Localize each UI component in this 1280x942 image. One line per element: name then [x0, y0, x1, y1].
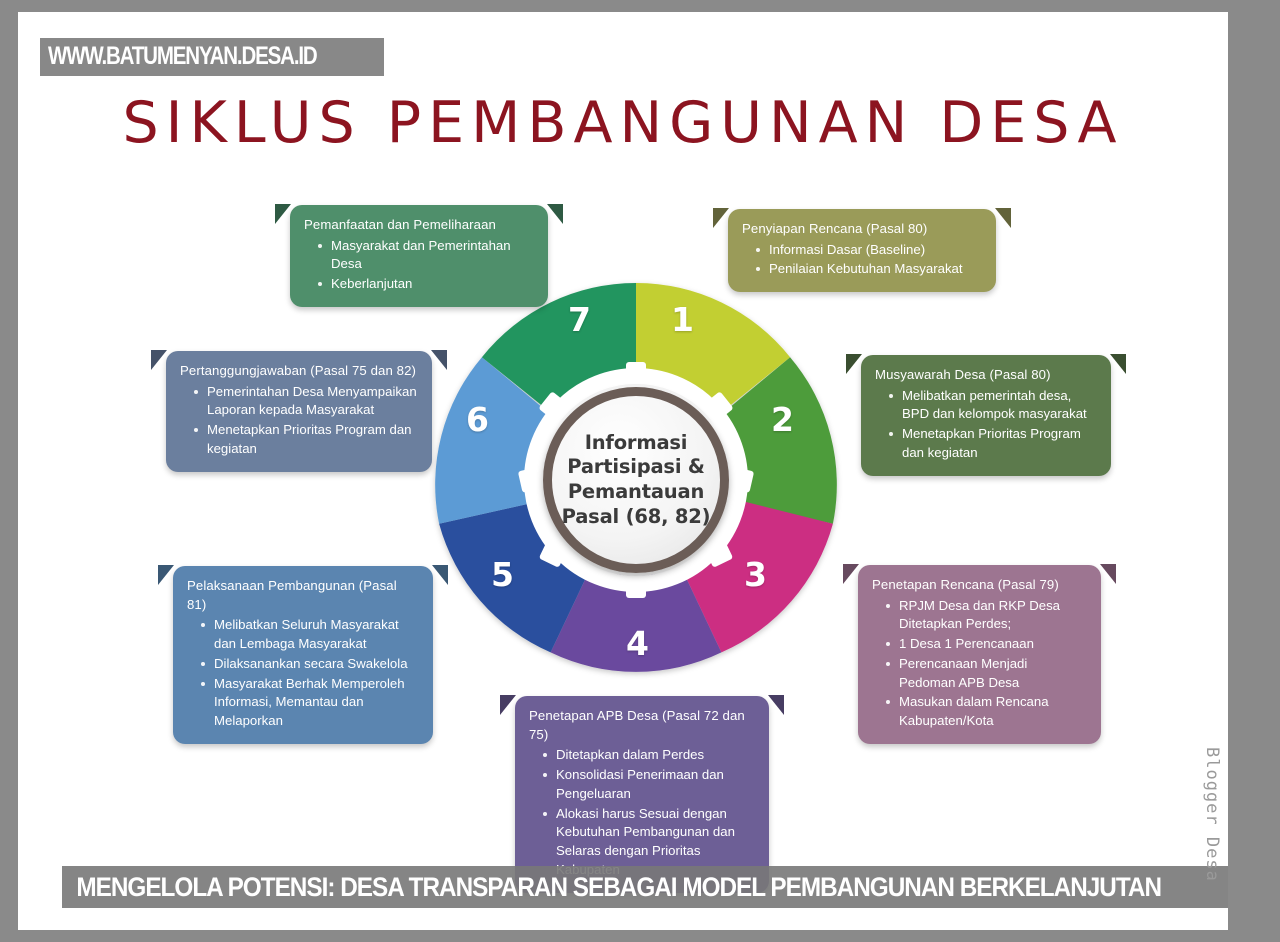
callout-box-7[interactable]: Pemanfaatan dan Pemeliharaan Masyarakat … — [290, 205, 548, 307]
list-item: Menetapkan Prioritas Program dan kegiata… — [889, 425, 1097, 462]
callout-title-6: Pertanggungjawaban (Pasal 75 dan 82) — [180, 362, 418, 381]
list-item: Informasi Dasar (Baseline) — [756, 241, 982, 260]
ribbon-tail-left-icon — [846, 354, 862, 374]
wheel-hub: Informasi Partisipasi & Pemantauan Pasal… — [543, 387, 729, 573]
hub-line-1: Informasi — [562, 431, 711, 456]
ribbon-tail-right-icon — [768, 695, 784, 715]
list-item: Ditetapkan dalam Perdes — [543, 746, 755, 765]
site-watermark-top-text: WWW.BATUMENYAN.DESA.ID — [48, 42, 317, 71]
ribbon-tail-right-icon — [1100, 564, 1116, 584]
ribbon-tail-left-icon — [713, 208, 729, 228]
callout-bullets-4: Ditetapkan dalam Perdes Konsolidasi Pene… — [529, 746, 755, 879]
hub-line-4: Pasal (68, 82) — [562, 505, 711, 530]
callout-box-5[interactable]: Pelaksanaan Pembangunan (Pasal 81) Melib… — [173, 566, 433, 744]
hub-text: Informasi Partisipasi & Pemantauan Pasal… — [556, 431, 717, 529]
list-item: Perencanaan Menjadi Pedoman APB Desa — [886, 655, 1087, 692]
list-item: Melibatkan pemerintah desa, BPD dan kelo… — [889, 387, 1097, 424]
callout-bullets-1: Informasi Dasar (Baseline) Penilaian Keb… — [742, 241, 982, 279]
callout-title-4: Penetapan APB Desa (Pasal 72 dan 75) — [529, 707, 755, 744]
callout-bullets-2: Melibatkan pemerintah desa, BPD dan kelo… — [875, 387, 1097, 463]
hub-line-3: Pemantauan — [562, 480, 711, 505]
callout-title-3: Penetapan Rencana (Pasal 79) — [872, 576, 1087, 595]
ribbon-tail-left-icon — [275, 204, 291, 224]
ribbon-tail-right-icon — [432, 565, 448, 585]
list-item: Konsolidasi Penerimaan dan Pengeluaran — [543, 766, 755, 803]
callout-bullets-3: RPJM Desa dan RKP Desa Ditetapkan Perdes… — [872, 597, 1087, 731]
list-item: Menetapkan Prioritas Program dan kegiata… — [194, 421, 418, 458]
cycle-wheel: 1 2 3 4 5 6 7 Informasi Partisipasi & Pe… — [426, 270, 846, 690]
caption-banner: MENGELOLA POTENSI: DESA TRANSPARAN SEBAG… — [62, 866, 1228, 908]
list-item: 1 Desa 1 Perencanaan — [886, 635, 1087, 654]
ribbon-tail-right-icon — [1110, 354, 1126, 374]
callout-box-6[interactable]: Pertanggungjawaban (Pasal 75 dan 82) Pem… — [166, 351, 432, 472]
callout-bullets-6: Pemerintahan Desa Menyampaikan Laporan k… — [180, 383, 418, 459]
list-item: Melibatkan Seluruh Masyarakat dan Lembag… — [201, 616, 419, 653]
callout-bullets-5: Melibatkan Seluruh Masyarakat dan Lembag… — [187, 616, 419, 730]
callout-bullets-7: Masyarakat dan Pemerintahan Desa Keberla… — [304, 237, 534, 294]
infographic-canvas: SIKLUS PEMBANGUNAN DESA — [18, 12, 1228, 930]
screenshot-root: SIKLUS PEMBANGUNAN DESA — [0, 0, 1280, 942]
callout-box-1[interactable]: Penyiapan Rencana (Pasal 80) Informasi D… — [728, 209, 996, 292]
list-item: Dilaksanankan secara Swakelola — [201, 655, 419, 674]
list-item: Masyarakat Berhak Memperoleh Informasi, … — [201, 675, 419, 731]
list-item: Penilaian Kebutuhan Masyarakat — [756, 260, 982, 279]
callout-box-4[interactable]: Penetapan APB Desa (Pasal 72 dan 75) Dit… — [515, 696, 769, 893]
caption-banner-text: MENGELOLA POTENSI: DESA TRANSPARAN SEBAG… — [62, 872, 1161, 903]
callout-title-1: Penyiapan Rencana (Pasal 80) — [742, 220, 982, 239]
ribbon-tail-right-icon — [547, 204, 563, 224]
list-item: RPJM Desa dan RKP Desa Ditetapkan Perdes… — [886, 597, 1087, 634]
list-item: Masyarakat dan Pemerintahan Desa — [318, 237, 534, 274]
hub-line-2: Partisipasi & — [562, 455, 711, 480]
site-watermark-top: WWW.BATUMENYAN.DESA.ID — [40, 38, 384, 76]
ribbon-tail-left-icon — [843, 564, 859, 584]
list-item: Pemerintahan Desa Menyampaikan Laporan k… — [194, 383, 418, 420]
callout-title-2: Musyawarah Desa (Pasal 80) — [875, 366, 1097, 385]
ribbon-tail-left-icon — [151, 350, 167, 370]
ribbon-tail-left-icon — [500, 695, 516, 715]
callout-box-2[interactable]: Musyawarah Desa (Pasal 80) Melibatkan pe… — [861, 355, 1111, 476]
blogger-watermark-side: Blogger Desa — [1202, 747, 1222, 882]
page-title: SIKLUS PEMBANGUNAN DESA — [18, 90, 1228, 156]
callout-box-3[interactable]: Penetapan Rencana (Pasal 79) RPJM Desa d… — [858, 565, 1101, 744]
ribbon-tail-right-icon — [995, 208, 1011, 228]
list-item: Keberlanjutan — [318, 275, 534, 294]
callout-title-5: Pelaksanaan Pembangunan (Pasal 81) — [187, 577, 419, 614]
callout-title-7: Pemanfaatan dan Pemeliharaan — [304, 216, 534, 235]
list-item: Masukan dalam Rencana Kabupaten/Kota — [886, 693, 1087, 730]
ribbon-tail-right-icon — [431, 350, 447, 370]
ribbon-tail-left-icon — [158, 565, 174, 585]
